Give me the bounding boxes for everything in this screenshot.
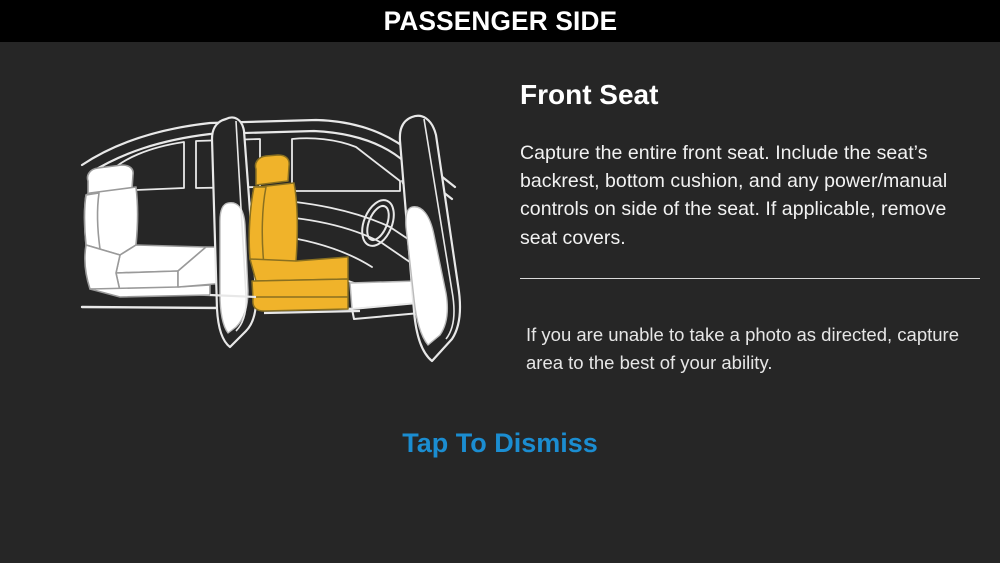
front-door-window	[292, 138, 400, 191]
tap-to-dismiss-button[interactable]: Tap To Dismiss	[0, 428, 1000, 459]
info-panel: Front Seat Capture the entire front seat…	[520, 80, 982, 376]
rear-seat	[85, 165, 227, 297]
instruction-overlay-screen: PASSENGER SIDE	[0, 0, 1000, 563]
front-seat	[249, 155, 348, 311]
car-illustration	[60, 95, 510, 405]
panel-instruction-text: Capture the entire front seat. Include t…	[520, 139, 982, 252]
panel-note-text: If you are unable to take a photo as dir…	[526, 321, 982, 377]
steering-wheel	[356, 196, 400, 251]
panel-divider	[520, 278, 980, 279]
floor-sill	[350, 281, 420, 319]
header-bar: PASSENGER SIDE	[0, 0, 1000, 42]
panel-title: Front Seat	[520, 80, 982, 111]
front-door-open	[400, 116, 460, 361]
page-title: PASSENGER SIDE	[383, 8, 617, 35]
